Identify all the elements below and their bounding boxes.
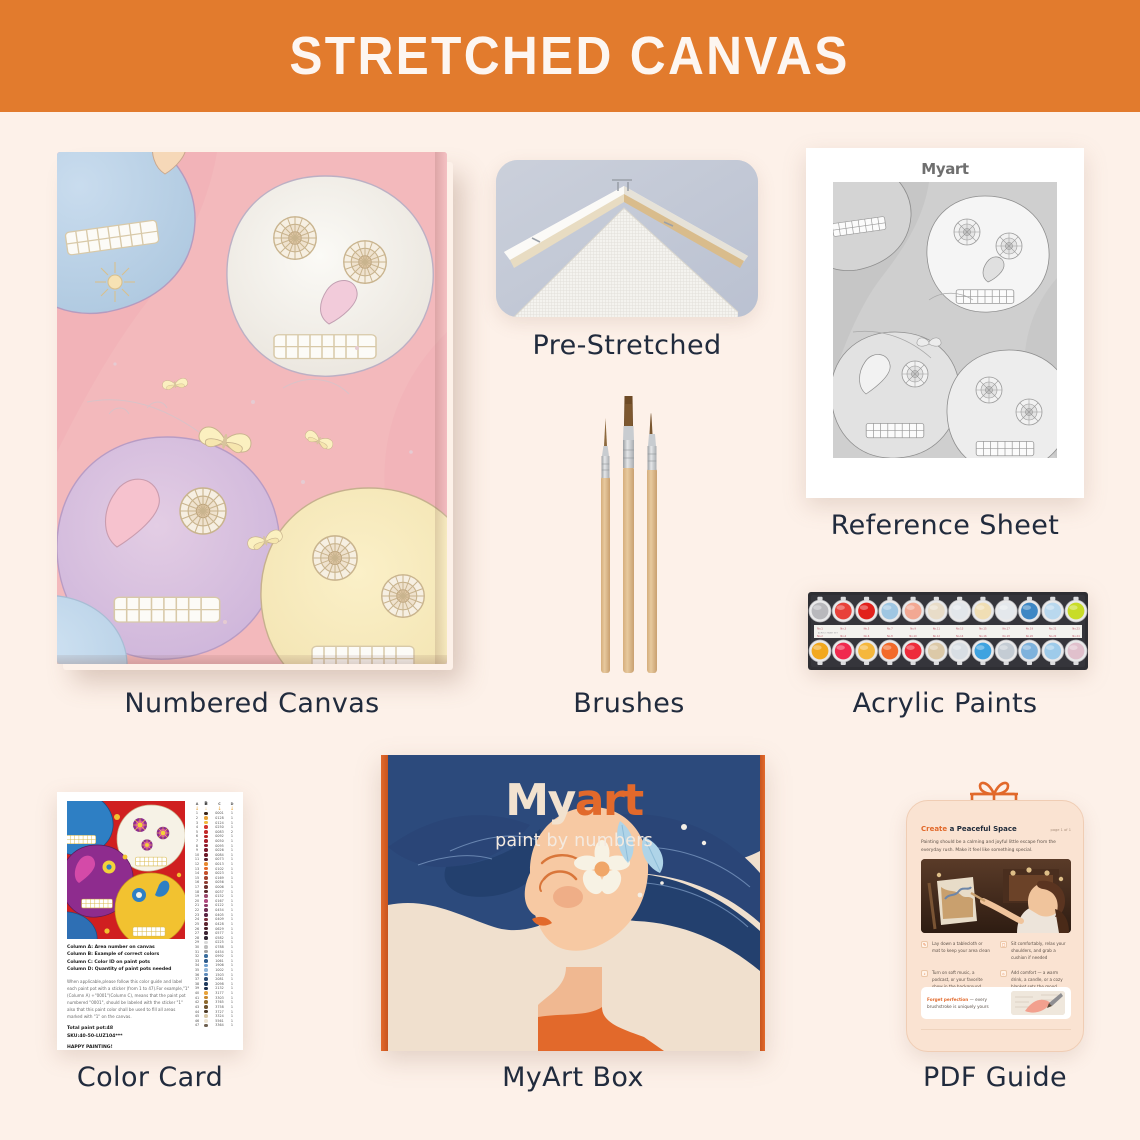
paint-pot-tab — [1050, 597, 1055, 601]
cc-quantity: 1 — [228, 917, 236, 921]
cc-quantity: 1 — [228, 834, 236, 838]
cc-swatch-cell — [201, 904, 211, 908]
color-card-row: 4733641 — [193, 1023, 237, 1028]
product-infographic: STRETCHED CANVAS — [0, 0, 1140, 1140]
pdf-heading-rest: a Peaceful Space — [947, 825, 1017, 833]
paint-pot — [1068, 603, 1085, 620]
paint-pot — [975, 643, 992, 660]
cc-area-number: 19 — [193, 894, 201, 898]
cc-color-swatch — [204, 982, 208, 986]
cc-color-swatch — [204, 830, 208, 834]
cc-area-number: 32 — [193, 954, 201, 958]
paint-pot-tab — [1004, 597, 1009, 601]
paint-pot-highlight — [860, 645, 868, 650]
cc-area-number: 21 — [193, 903, 201, 907]
cc-color-id: 0037 — [211, 890, 228, 894]
paint-pot-tab — [864, 597, 869, 601]
cc-color-id: 2132 — [211, 986, 228, 990]
cc-quantity: 1 — [228, 844, 236, 848]
paint-pot-tab — [957, 661, 962, 665]
box-brand-logo: Myart — [388, 779, 760, 823]
cc-area-number: 45 — [193, 1014, 201, 1018]
cc-color-swatch — [204, 1000, 208, 1004]
paint-pot — [1044, 603, 1061, 620]
cc-color-swatch — [204, 858, 208, 862]
cc-swatch-cell — [201, 839, 211, 843]
paint-pot-tab — [817, 661, 822, 665]
pdf-heading: Create a Peaceful Space — [921, 825, 1017, 833]
cc-swatch-cell — [201, 848, 211, 852]
caption-numbered-canvas: Numbered Canvas — [57, 688, 447, 719]
paint-pot — [1044, 643, 1061, 660]
color-card-totals: Total paint pot:48 SKU:40-50-LUZ104*** — [67, 1025, 191, 1040]
paint-pot — [812, 643, 829, 660]
numbered-canvas-image — [57, 152, 447, 664]
cc-color-id: 0629 — [211, 927, 228, 931]
cc-area-number: 3 — [193, 821, 201, 825]
cc-quantity: 1 — [228, 880, 236, 884]
color-card-row: 3720811 — [193, 977, 237, 982]
cc-swatch-cell — [201, 894, 211, 898]
cc-swatch-cell — [201, 835, 211, 839]
color-card-row: 3209921 — [193, 954, 237, 959]
paint-pot-label: No.19 — [1026, 626, 1034, 630]
cc-area-number: 4 — [193, 825, 201, 829]
color-card-row: 1700061 — [193, 885, 237, 890]
cc-quantity: 1 — [228, 867, 236, 871]
color-card-row: 3921321 — [193, 986, 237, 991]
color-card-rows: 1000112012813012414025015008326009217005… — [193, 811, 237, 1028]
paint-pot — [881, 603, 898, 620]
cc-quantity: 1 — [228, 950, 236, 954]
cc-color-id: 0409 — [211, 917, 228, 921]
cc-quantity: 1 — [228, 977, 236, 981]
paint-pot-highlight — [953, 605, 961, 610]
cc-quantity: 1 — [228, 1014, 236, 1018]
paint-pot-label: No.1 — [817, 626, 823, 630]
cc-quantity: 1 — [228, 839, 236, 843]
color-card-table: A B C D ↓↓ ↓↓ 10001120128130124140250150… — [193, 802, 237, 1028]
paint-pot-label: No.16 — [979, 634, 987, 638]
cc-swatch-cell — [201, 996, 211, 1000]
cc-area-number: 30 — [193, 945, 201, 949]
paint-pot — [998, 643, 1015, 660]
music-icon: ♪ — [921, 970, 928, 977]
paint-pot-tab — [1027, 661, 1032, 665]
cc-swatch-cell — [201, 881, 211, 885]
cc-swatch-cell — [201, 927, 211, 931]
cc-swatch-cell — [201, 1019, 211, 1023]
color-card-row: 700501 — [193, 839, 237, 844]
cc-color-id: 0124 — [211, 821, 228, 825]
cc-color-swatch — [204, 1005, 208, 1009]
paint-pot-label: No.7 — [887, 626, 893, 630]
cc-swatch-cell — [201, 931, 211, 935]
cc-color-swatch — [204, 835, 208, 839]
cc-swatch-cell — [201, 908, 211, 912]
cc-swatch-cell — [201, 853, 211, 857]
cc-swatch-cell — [201, 862, 211, 866]
page-title: STRETCHED CANVAS — [290, 25, 850, 87]
pdf-photo — [921, 859, 1071, 933]
cc-quantity: 2 — [228, 830, 236, 834]
cc-color-swatch — [204, 848, 208, 852]
cc-color-id: 0102 — [211, 867, 228, 871]
cc-quantity: 1 — [228, 1019, 236, 1023]
cc-color-id: 0026 — [211, 848, 228, 852]
cc-quantity: 1 — [228, 996, 236, 1000]
cc-swatch-cell — [201, 973, 211, 977]
cc-quantity: 1 — [228, 1005, 236, 1009]
paint-pot-label: No.13 — [956, 626, 964, 630]
cc-color-id: 0095 — [211, 844, 228, 848]
paint-pot-label: No.18 — [1003, 634, 1011, 638]
cc-area-number: 8 — [193, 844, 201, 848]
color-card-row: 2902251 — [193, 940, 237, 945]
pdf-note: Forget perfection — every brushstroke is… — [921, 987, 1071, 1019]
color-card-row: 1800371 — [193, 889, 237, 894]
cc-quantity: 1 — [228, 894, 236, 898]
paint-pot — [928, 643, 945, 660]
paint-pot-tab — [957, 597, 962, 601]
paint-pot-label: No.15 — [979, 626, 987, 630]
cc-color-swatch — [204, 816, 208, 820]
box-spine-right — [760, 755, 765, 1051]
paint-pot — [951, 643, 968, 660]
cc-swatch-cell — [201, 871, 211, 875]
cc-color-swatch — [204, 899, 208, 903]
cc-swatch-cell — [201, 1014, 211, 1018]
color-card-row: 4237651 — [193, 1000, 237, 1005]
cc-swatch-cell — [201, 816, 211, 820]
cc-color-id: 0167 — [211, 899, 228, 903]
cc-color-id: 0073 — [211, 857, 228, 861]
cc-quantity: 1 — [228, 825, 236, 829]
cc-quantity: 1 — [228, 899, 236, 903]
cc-area-number: 15 — [193, 876, 201, 880]
color-card-artwork — [67, 801, 185, 939]
cc-color-swatch — [204, 931, 208, 935]
cc-area-number: 38 — [193, 982, 201, 986]
paint-pot — [1021, 643, 1038, 660]
color-card-row: 3419061 — [193, 963, 237, 968]
cc-color-id: 1906 — [211, 963, 228, 967]
cc-color-swatch — [204, 1014, 208, 1018]
paint-pot-label: No.17 — [1003, 626, 1011, 630]
cc-quantity: 1 — [228, 991, 236, 995]
paint-pot-tab — [1073, 661, 1078, 665]
paint-pot-highlight — [906, 645, 914, 650]
cc-area-number: 11 — [193, 857, 201, 861]
cc-quantity: 1 — [228, 982, 236, 986]
paint-pot-label: No.21 — [1049, 626, 1057, 630]
cc-color-swatch — [204, 1024, 208, 1028]
paint-pot-tab — [1050, 661, 1055, 665]
color-card-row: 4533241 — [193, 1014, 237, 1019]
color-card-row: 301241 — [193, 820, 237, 825]
color-card-row: 4437271 — [193, 1009, 237, 1014]
cc-color-swatch — [204, 973, 208, 977]
cc-area-number: 42 — [193, 1000, 201, 1004]
paint-pot-label: No.20 — [1026, 634, 1034, 638]
color-card-image: Column A: Area number on canvas Column B… — [57, 792, 243, 1050]
cc-quantity: 1 — [228, 908, 236, 912]
pdf-header: Create a Peaceful Space page 1 of 1 — [921, 825, 1071, 833]
cc-color-id: 3177 — [211, 991, 228, 995]
box-spine-left — [381, 755, 388, 1051]
cc-color-swatch — [204, 950, 208, 954]
paint-pot-tab — [934, 661, 939, 665]
paint-pot-label: No.8 — [887, 634, 893, 638]
color-card-row: 1301021 — [193, 866, 237, 871]
paint-pot-highlight — [1023, 645, 1031, 650]
color-card-row: 3007881 — [193, 945, 237, 950]
caption-brushes: Brushes — [498, 688, 760, 719]
paint-pot-label: No.11 — [933, 626, 941, 630]
cc-swatch-cell — [201, 941, 211, 945]
cc-color-swatch — [204, 825, 208, 829]
cc-color-id: 0056 — [211, 880, 228, 884]
reference-sheet-image: Myart — [806, 148, 1084, 498]
cc-quantity: 1 — [228, 986, 236, 990]
cc-color-swatch — [204, 927, 208, 931]
paint-pot-highlight — [813, 605, 821, 610]
cc-color-id: 1503 — [211, 973, 228, 977]
cc-swatch-cell — [201, 885, 211, 889]
cc-area-number: 34 — [193, 963, 201, 967]
cc-color-id: 0454 — [211, 950, 228, 954]
paint-pot-highlight — [999, 645, 1007, 650]
color-card-row: 1501691 — [193, 876, 237, 881]
cc-area-number: 37 — [193, 977, 201, 981]
color-card-row: 900261 — [193, 848, 237, 853]
paint-pot-tab — [887, 597, 892, 601]
cc-color-id: 3324 — [211, 1014, 228, 1018]
box-tagline: paint by numbers — [388, 831, 760, 851]
cc-color-swatch — [204, 867, 208, 871]
cc-color-id: 3758 — [211, 1005, 228, 1009]
cc-color-swatch — [204, 913, 208, 917]
cc-color-swatch — [204, 991, 208, 995]
cc-swatch-cell — [201, 876, 211, 880]
color-card-row: 2304051 — [193, 912, 237, 917]
paint-pot-highlight — [906, 605, 914, 610]
caption-color-card: Color Card — [20, 1062, 280, 1093]
box-logo-art: art — [575, 775, 643, 826]
paint-pot — [858, 643, 875, 660]
color-card-row: 600921 — [193, 834, 237, 839]
color-card-row: 2001671 — [193, 899, 237, 904]
color-card-row: 1400231 — [193, 871, 237, 876]
cc-area-number: 26 — [193, 927, 201, 931]
cc-swatch-cell — [201, 918, 211, 922]
paint-pot-label: No.10 — [909, 634, 917, 638]
color-card-row: 201281 — [193, 816, 237, 821]
cc-color-id: 2081 — [211, 977, 228, 981]
cc-swatch-cell — [201, 977, 211, 981]
cc-color-swatch — [204, 977, 208, 981]
color-card-row: 1901521 — [193, 894, 237, 899]
color-card-row: 402501 — [193, 825, 237, 830]
color-card-instructions: When applicable,please follow this color… — [67, 978, 191, 1020]
cc-color-swatch — [204, 876, 208, 880]
color-card-row: 2805821 — [193, 935, 237, 940]
cc-color-id: 3364 — [211, 1023, 228, 1027]
paint-pot-tab — [817, 597, 822, 601]
cc-quantity: 1 — [228, 959, 236, 963]
caption-myart-box: MyArt Box — [381, 1062, 765, 1093]
cc-quantity: 1 — [228, 890, 236, 894]
color-card-row: 4337581 — [193, 1005, 237, 1010]
cc-swatch-cell — [201, 1010, 211, 1014]
cc-quantity: 1 — [228, 853, 236, 857]
cc-swatch-cell — [201, 844, 211, 848]
cc-color-swatch — [204, 904, 208, 908]
cc-swatch-cell — [201, 830, 211, 834]
paint-pot-highlight — [1069, 645, 1077, 650]
cc-color-id: 3303 — [211, 996, 228, 1000]
cc-area-number: 13 — [193, 867, 201, 871]
cc-swatch-cell — [201, 922, 211, 926]
paint-pot-highlight — [953, 645, 961, 650]
color-card-row: 800951 — [193, 843, 237, 848]
cc-swatch-cell — [201, 1024, 211, 1028]
color-card-row: 3104541 — [193, 949, 237, 954]
cc-swatch-cell — [201, 945, 211, 949]
cc-area-number: 14 — [193, 871, 201, 875]
cc-color-id: 0013 — [211, 862, 228, 866]
cc-quantity: 1 — [228, 922, 236, 926]
cc-color-id: 0152 — [211, 894, 228, 898]
chair-icon: ▢ — [1000, 941, 1007, 948]
cc-quantity: 1 — [228, 903, 236, 907]
cc-quantity: 1 — [228, 913, 236, 917]
cc-color-swatch — [204, 968, 208, 972]
cc-color-id: 0001 — [211, 811, 228, 815]
color-card-row: 100011 — [193, 811, 237, 816]
paint-pot-tab — [980, 597, 985, 601]
cc-area-number: 2 — [193, 816, 201, 820]
cc-area-number: 9 — [193, 848, 201, 852]
paint-pot-label: No.9 — [910, 626, 916, 630]
caption-reference-sheet: Reference Sheet — [806, 510, 1084, 541]
pdf-note-image — [1011, 991, 1065, 1015]
caption-pdf-guide: PDF Guide — [860, 1062, 1130, 1093]
cc-quantity: 1 — [228, 1010, 236, 1014]
cc-quantity: 1 — [228, 816, 236, 820]
paint-pot-highlight — [1046, 645, 1054, 650]
paint-pot — [1021, 603, 1038, 620]
pdf-tip: ▢ Sit comfortably, relax your shoulders,… — [1000, 941, 1071, 961]
cc-color-swatch — [204, 881, 208, 885]
cc-quantity: 1 — [228, 848, 236, 852]
paint-pot-highlight — [930, 645, 938, 650]
cc-color-swatch — [204, 844, 208, 848]
cc-color-id: 3765 — [211, 1000, 228, 1004]
pdf-page-number: page 1 of 1 — [1051, 828, 1071, 832]
cc-color-id: 0250 — [211, 825, 228, 829]
paint-pot-highlight — [883, 605, 891, 610]
cc-color-id: 0788 — [211, 945, 228, 949]
brush-icon: ✎ — [921, 941, 928, 948]
cc-area-number: 35 — [193, 968, 201, 972]
color-card-row: 3510021 — [193, 968, 237, 973]
cc-swatch-cell — [201, 913, 211, 917]
cc-color-id: 0128 — [211, 816, 228, 820]
cc-color-id: 1002 — [211, 968, 228, 972]
paint-pot-tab — [1004, 661, 1009, 665]
paint-pot — [835, 643, 852, 660]
cc-color-swatch — [204, 821, 208, 825]
cc-quantity: 1 — [228, 973, 236, 977]
cc-swatch-cell — [201, 890, 211, 894]
cc-quantity: 1 — [228, 871, 236, 875]
paint-pot — [905, 603, 922, 620]
paint-pot — [975, 603, 992, 620]
cc-color-id: 1061 — [211, 959, 228, 963]
cc-color-id: 0428 — [211, 922, 228, 926]
cc-quantity: 1 — [228, 885, 236, 889]
cc-color-id: 0050 — [211, 839, 228, 843]
cc-color-swatch — [204, 1019, 208, 1023]
cc-swatch-cell — [201, 964, 211, 968]
color-card-row: 2504281 — [193, 922, 237, 927]
paint-pot-label: No.3 — [840, 626, 846, 630]
cc-quantity: 1 — [228, 968, 236, 972]
paint-pot-tab — [864, 661, 869, 665]
cc-quantity: 1 — [228, 876, 236, 880]
cc-quantity: 1 — [228, 811, 236, 815]
cc-color-swatch — [204, 954, 208, 958]
cc-quantity: 1 — [228, 963, 236, 967]
paint-pot-tab — [841, 661, 846, 665]
cc-area-number: 18 — [193, 890, 201, 894]
cc-color-id: 0092 — [211, 834, 228, 838]
cc-color-swatch — [204, 812, 208, 816]
cc-area-number: 47 — [193, 1023, 201, 1027]
cc-color-swatch — [204, 936, 208, 940]
cc-quantity: 1 — [228, 927, 236, 931]
cc-quantity: 1 — [228, 945, 236, 949]
pdf-heading-accent: Create — [921, 825, 947, 833]
cc-quantity: 1 — [228, 936, 236, 940]
paint-pot-highlight — [813, 645, 821, 650]
cc-area-number: 41 — [193, 996, 201, 1000]
paint-pot-highlight — [836, 645, 844, 650]
cc-color-id: 5561 — [211, 1019, 228, 1023]
cc-color-id: 0084 — [211, 853, 228, 857]
cc-area-number: 22 — [193, 908, 201, 912]
cc-quantity: 1 — [228, 954, 236, 958]
cc-swatch-cell — [201, 858, 211, 862]
acrylic-paints-image: No.1No.3No.5No.7No.9No.11No.13No.15No.17… — [808, 592, 1088, 670]
paint-pot-highlight — [976, 645, 984, 650]
color-card-row: 2606291 — [193, 926, 237, 931]
cc-area-number: 36 — [193, 973, 201, 977]
cc-swatch-cell — [201, 959, 211, 963]
cc-color-id: 0083 — [211, 830, 228, 834]
paint-pot-highlight — [930, 605, 938, 610]
pdf-tips-list: ✎ Lay down a tablecloth or mat to keep y… — [921, 941, 1071, 991]
pdf-tip: ✎ Lay down a tablecloth or mat to keep y… — [921, 941, 992, 961]
pdf-guide-image: Create a Peaceful Space page 1 of 1 Pain… — [906, 800, 1084, 1052]
paint-pot-label: No.4 — [840, 634, 846, 638]
paint-pot-tab — [980, 661, 985, 665]
paint-pot-tab — [887, 661, 892, 665]
cc-color-swatch — [204, 908, 208, 912]
cc-area-number: 33 — [193, 959, 201, 963]
color-card-row: 1000841 — [193, 852, 237, 857]
